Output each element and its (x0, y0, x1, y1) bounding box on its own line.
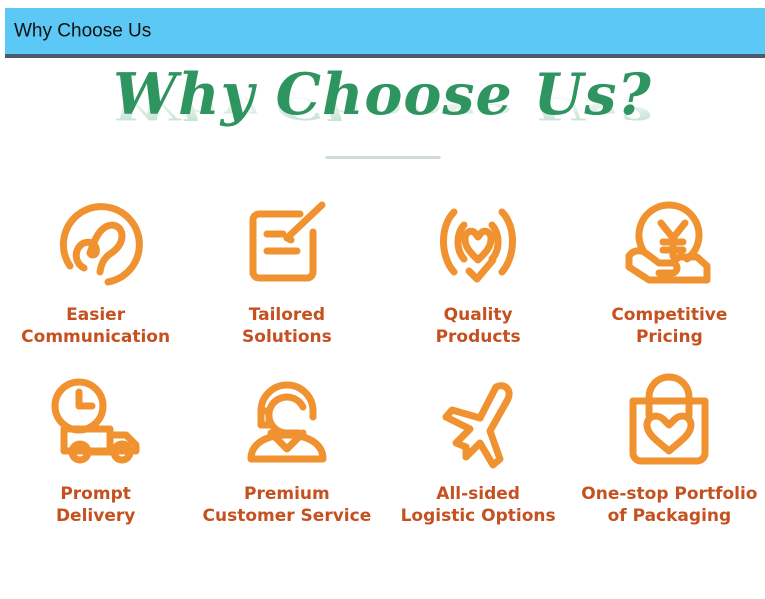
window-title-bar: Why Choose Us (5, 8, 765, 58)
hand-holding-yen-coin-icon (614, 190, 724, 298)
document-pencil-icon (232, 190, 342, 298)
feature-item-one-stop-portfolio-of-packaging[interactable]: One-stop Portfolio of Packaging (574, 369, 765, 528)
feature-item-competitive-pricing[interactable]: Competitive Pricing (574, 190, 765, 349)
page-content: Why Choose Us? Why Choose Us? Easier Com… (0, 60, 765, 599)
heart-soundwave-check-icon (423, 190, 533, 298)
delivery-truck-clock-icon (41, 369, 151, 477)
feature-item-all-sided-logistic-options[interactable]: All-sided Logistic Options (383, 369, 574, 528)
page-title: Why Choose Us? (0, 66, 765, 123)
window-title: Why Choose Us (14, 22, 151, 41)
feature-label: One-stop Portfolio of Packaging (581, 483, 757, 528)
feature-label: Prompt Delivery (56, 483, 135, 528)
shopping-bag-heart-icon (614, 369, 724, 477)
feature-label: Competitive Pricing (611, 304, 727, 349)
headset-agent-icon (232, 369, 342, 477)
ear-listening-icon (41, 190, 151, 298)
airplane-icon (423, 369, 533, 477)
feature-row: Easier Communication Tailored Solutions (0, 190, 765, 349)
feature-label: Quality Products (436, 304, 521, 349)
feature-item-easier-communication[interactable]: Easier Communication (0, 190, 191, 349)
feature-label: Premium Customer Service (203, 483, 372, 528)
feature-item-tailored-solutions[interactable]: Tailored Solutions (191, 190, 382, 349)
feature-label: Tailored Solutions (242, 304, 332, 349)
feature-item-premium-customer-service[interactable]: Premium Customer Service (191, 369, 382, 528)
feature-item-quality-products[interactable]: Quality Products (383, 190, 574, 349)
feature-label: Easier Communication (21, 304, 170, 349)
hero-section: Why Choose Us? Why Choose Us? (0, 60, 765, 165)
feature-grid: Easier Communication Tailored Solutions (0, 190, 765, 548)
feature-label: All-sided Logistic Options (401, 483, 556, 528)
feature-item-prompt-delivery[interactable]: Prompt Delivery (0, 369, 191, 528)
hero-divider (325, 156, 440, 159)
feature-row: Prompt Delivery Premium Customer Service (0, 369, 765, 528)
